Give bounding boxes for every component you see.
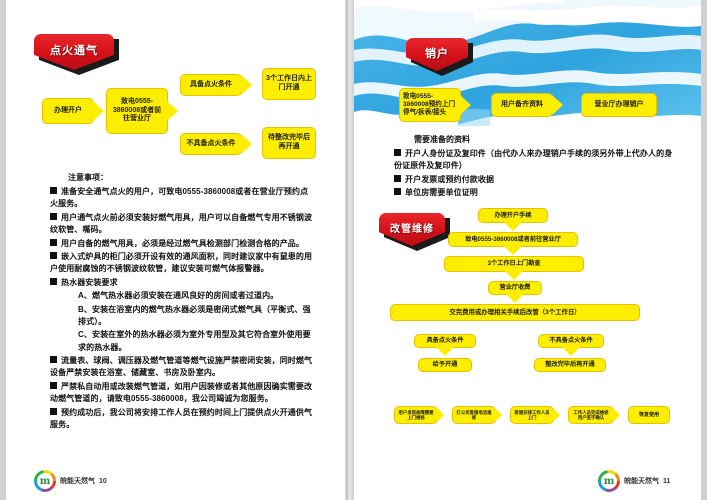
bullet-icon (50, 382, 57, 389)
right-page-footer: m 皖能天然气 11 (598, 470, 670, 492)
bullet-icon (394, 188, 401, 195)
flow-node-close-at-office[interactable]: 营业厅办理销户 (581, 93, 657, 117)
footer-brand: 皖能天然气 (624, 476, 659, 486)
notes-block: 注意事项： 准备安全通气点火的用户，可致电0555-3860008或者在营业厅预… (50, 172, 315, 432)
wave-artwork (354, 0, 701, 150)
page-gutter (346, 0, 354, 500)
page-number: 11 (663, 478, 670, 485)
flow-node-open-account[interactable]: 办理开户 (42, 98, 94, 124)
banner-label: 销户 (406, 45, 468, 61)
flow-node-office-charge[interactable]: 营业厅收费 (488, 281, 542, 295)
flow-node-open-account-procedure[interactable]: 办理开户手续 (478, 208, 548, 223)
bullet-icon (394, 175, 401, 182)
note-item: 嵌入式炉具的柜门必须开设有效的通风面积，同时建议家中有鼠患的用户使用耐腐蚀的不锈… (50, 252, 312, 273)
flow-node-grant-open[interactable]: 给予开通 (418, 358, 472, 372)
bullet-icon (394, 149, 401, 156)
flow-node-call-service[interactable]: 打公司客服电话报修 (452, 406, 496, 424)
bullet-icon (50, 239, 57, 246)
banner-pipe-modification: 改管维修 (379, 213, 445, 246)
flow-node-call-or-visit[interactable]: 致电0555-3860008或者前往营业厅 (106, 88, 168, 134)
bullet-icon (50, 187, 57, 194)
material-item: 开户人身份证及复印件（由代办人来办理销户手续的须另外带上代办人的身份证原件及复印… (394, 149, 672, 170)
flow-node-user-found-fault[interactable]: 用户发现故障需要上门维修 (394, 406, 438, 424)
materials-block: 需要准备的资料 开户人身份证及复印件（由代办人来办理销户手续的须另外带上代办人的… (382, 134, 678, 201)
material-item: 开户发票或预约付款收据 (405, 175, 494, 184)
flow-node-mid-has-ignition[interactable]: 具备点火条件 (414, 334, 476, 348)
notes-heading: 注意事项： (68, 172, 315, 183)
flow-node-repair-signed[interactable]: 工作人员完成维修用户签字确认 (568, 406, 614, 424)
note-item: 预约成功后，我公司将安排工作人员在预约时间上门提供点火开通供气服务。 (50, 408, 312, 429)
flow-node-prepare-materials[interactable]: 用户备齐资料 (491, 93, 553, 117)
flow-node-mid-no-ignition[interactable]: 不具备点火条件 (538, 334, 604, 348)
flow-node-no-ignition-condition[interactable]: 不具备点火条件 (180, 133, 242, 155)
bullet-icon (50, 278, 57, 285)
note-subitem: A、燃气热水器必须安装在通风良好的房间或者过道内。 (78, 290, 315, 302)
bullet-icon (50, 213, 57, 220)
note-item: 热水器安装要求 (61, 278, 118, 287)
note-item: 流量表、球阀、调压器及燃气管道等燃气设施严禁密闭安装，同时燃气设备严禁安装在浴室… (50, 356, 312, 377)
flow-node-open-after-rectify[interactable]: 待整改完毕后再开通 (262, 127, 316, 159)
brochure-spread: 点火通气 办理开户 致电0555-3860008或者前往营业厅 具备点火条件 3… (0, 0, 707, 500)
flow-node-call-appointment[interactable]: 致电0555-3860008预约上门停气/拆表/接头 (399, 88, 461, 122)
banner-ignition: 点火通气 (34, 34, 114, 70)
flow-node-open-after-fix[interactable]: 整改完毕后再开通 (534, 358, 606, 372)
note-item: 用户通气点火前必须安装好燃气用具，用户可以自备燃气专用不锈钢波纹软管、嘴码。 (50, 213, 312, 234)
bullet-icon (50, 408, 57, 415)
flow-node-pay-then-modify[interactable]: 交完费用或办理相关手续后改管（3个工作日） (390, 304, 640, 321)
banner-label: 改管维修 (379, 220, 445, 235)
banner-label: 点火通气 (34, 42, 114, 58)
flow-node-resume-use[interactable]: 恢复使用 (628, 406, 670, 424)
note-item: 用户自备的燃气用具，必须是经过燃气具检测部门检测合格的产品。 (61, 239, 304, 248)
flow-node-survey-3-days[interactable]: 3个工作日上门勘查 (444, 256, 584, 272)
company-logo-icon: m (34, 470, 56, 492)
note-subitem: B、安装在浴室内的燃气热水器必须是密闭式燃气具（平衡式、强排式）。 (78, 304, 315, 329)
flow-node-has-ignition-condition[interactable]: 具备点火条件 (180, 74, 242, 96)
banner-account-closure: 销户 (406, 38, 468, 71)
footer-brand: 皖能天然气 (60, 476, 95, 486)
note-subitem: C、安装在室外的热水器必须为室外专用型及其它符合室外使用要求的热水器。 (78, 329, 315, 354)
note-item: 准备安全通气点火的用户，可致电0555-3860008或者在营业厅预约点火服务。 (50, 187, 308, 208)
page-number: 10 (99, 478, 107, 485)
bullet-icon (50, 252, 57, 259)
right-page: 销户 致电0555-3860008预约上门停气/拆表/接头 用户备齐资料 营业厅… (354, 0, 701, 500)
flow-node-dispatch-staff[interactable]: 客服安排工作人员上门 (510, 406, 554, 424)
note-item: 严禁私自动用或改装燃气管道，如用户因装修或者其他原因确实需要改动燃气管道的，请致… (50, 382, 312, 403)
left-page: 点火通气 办理开户 致电0555-3860008或者前往营业厅 具备点火条件 3… (6, 0, 346, 500)
material-item: 单位房需要单位证明 (405, 188, 478, 197)
flow-node-open-in-3-days[interactable]: 3个工作日内上门开通 (262, 68, 316, 100)
flow-node-call-or-visit-office[interactable]: 致电0555-3860008或者前往营业厅 (448, 232, 578, 247)
left-page-footer: m 皖能天然气 10 (34, 470, 107, 492)
company-logo-icon: m (598, 470, 620, 492)
materials-heading: 需要准备的资料 (414, 134, 678, 145)
bullet-icon (50, 356, 57, 363)
